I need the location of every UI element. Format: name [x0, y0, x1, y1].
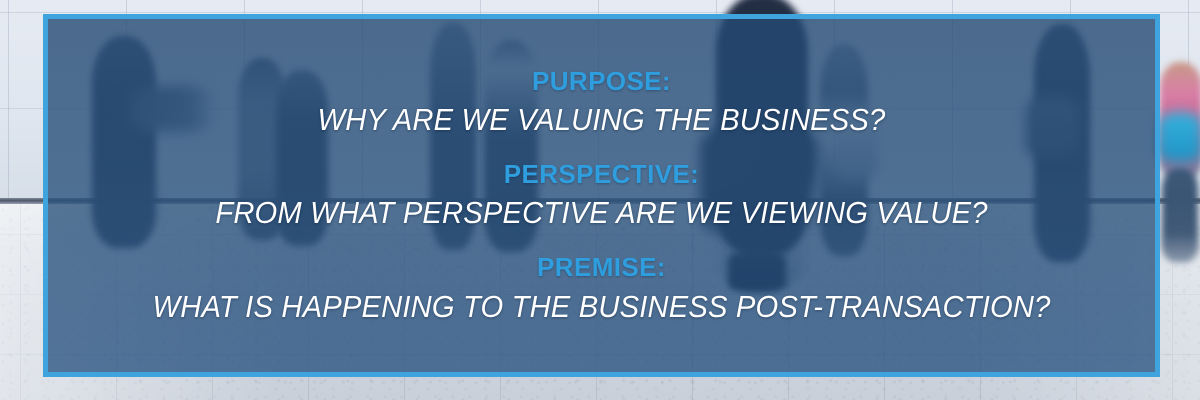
perspective-kicker: PERSPECTIVE: — [48, 160, 1155, 189]
message-stack: PURPOSE: WHY ARE WE VALUING THE BUSINESS… — [48, 19, 1155, 372]
premise-question: WHAT IS HAPPENING TO THE BUSINESS POST-T… — [81, 290, 1122, 325]
purpose-question: WHY ARE WE VALUING THE BUSINESS? — [81, 103, 1122, 138]
blurred-teal-bag — [1158, 112, 1200, 162]
message-block-perspective: PERSPECTIVE: FROM WHAT PERSPECTIVE ARE W… — [48, 160, 1155, 231]
premise-kicker: PREMISE: — [48, 253, 1155, 282]
perspective-question: FROM WHAT PERSPECTIVE ARE WE VIEWING VAL… — [81, 196, 1122, 231]
content-panel: PURPOSE: WHY ARE WE VALUING THE BUSINESS… — [43, 14, 1160, 377]
message-block-purpose: PURPOSE: WHY ARE WE VALUING THE BUSINESS… — [48, 67, 1155, 138]
slide-canvas: PURPOSE: WHY ARE WE VALUING THE BUSINESS… — [0, 0, 1200, 400]
blurred-person-9-reflection — [1160, 194, 1200, 262]
purpose-kicker: PURPOSE: — [48, 67, 1155, 96]
message-block-premise: PREMISE: WHAT IS HAPPENING TO THE BUSINE… — [48, 253, 1155, 324]
